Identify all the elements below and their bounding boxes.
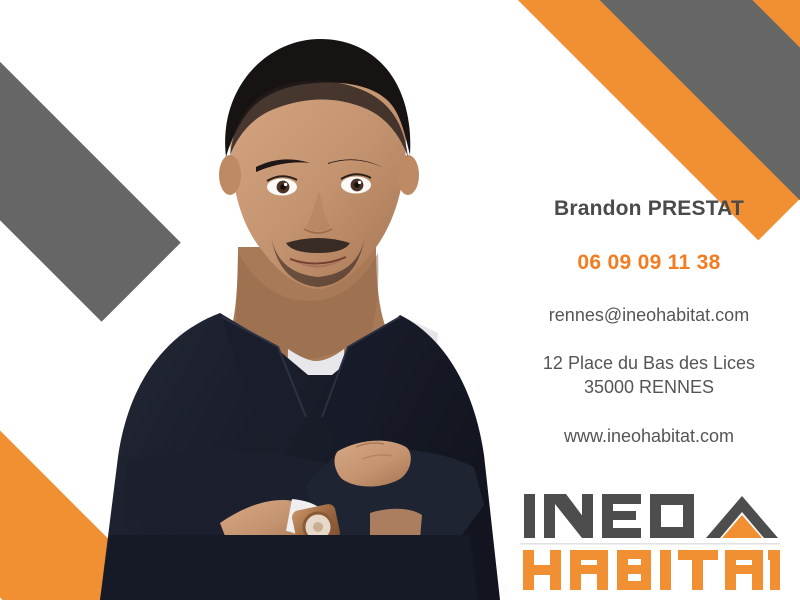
address-line-1: 12 Place du Bas des Lices bbox=[498, 352, 800, 376]
contact-name: Brandon PRESTAT bbox=[498, 196, 800, 221]
company-logo bbox=[520, 486, 780, 592]
logo-ineo-wordmark bbox=[524, 494, 694, 538]
contact-website[interactable]: www.ineohabitat.com bbox=[498, 426, 800, 447]
logo-divider bbox=[520, 543, 780, 545]
roof-chevron-icon bbox=[706, 496, 778, 538]
logo-habitat-wordmark bbox=[523, 550, 780, 590]
portrait-photo bbox=[70, 15, 520, 600]
contact-phone[interactable]: 06 09 09 11 38 bbox=[498, 251, 800, 275]
contact-address: 12 Place du Bas des Lices 35000 RENNES bbox=[498, 352, 800, 400]
contact-email[interactable]: rennes@ineohabitat.com bbox=[498, 305, 800, 326]
contact-block: Brandon PRESTAT 06 09 09 11 38 rennes@in… bbox=[498, 196, 800, 447]
business-card: Brandon PRESTAT 06 09 09 11 38 rennes@in… bbox=[0, 0, 800, 600]
address-line-2: 35000 RENNES bbox=[498, 376, 800, 400]
